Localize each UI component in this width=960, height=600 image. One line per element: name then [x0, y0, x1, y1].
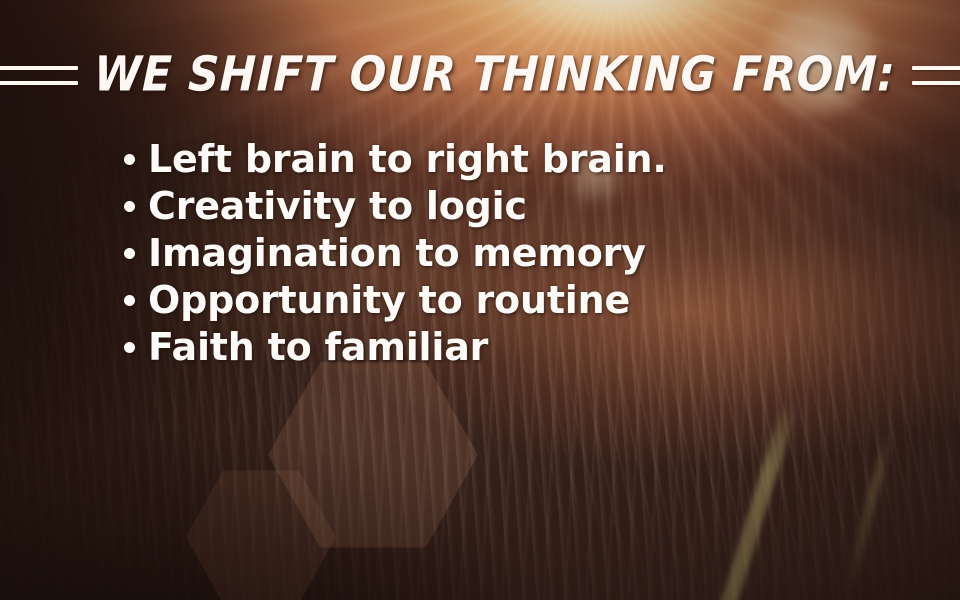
page-title: We shift our thinking from: [87, 51, 902, 99]
list-item-label: Faith to familiar [148, 324, 488, 371]
lens-flare-streak [695, 402, 798, 600]
title-rule-right-top [912, 66, 960, 70]
list-item-label: Imagination to memory [148, 230, 646, 277]
title-rule-left-top [0, 66, 78, 70]
bullet-dot-icon [124, 201, 135, 212]
title-row: We shift our thinking from: [0, 44, 960, 106]
list-item: Faith to familiar [124, 324, 824, 371]
lens-flare-hexagon-small [186, 470, 336, 600]
list-item-label: Creativity to logic [148, 183, 527, 230]
title-rule-right-bottom [912, 81, 960, 85]
lens-flare-hexagon [268, 362, 478, 548]
bullet-dot-icon [124, 154, 135, 165]
bullet-dot-icon [124, 248, 135, 259]
presentation-slide: We shift our thinking from: Left brain t… [0, 0, 960, 600]
list-item: Left brain to right brain. [124, 136, 824, 183]
list-item: Opportunity to routine [124, 277, 824, 324]
list-item-label: Opportunity to routine [148, 277, 630, 324]
bullet-list: Left brain to right brain. Creativity to… [124, 136, 824, 371]
title-rule-group-right [912, 66, 960, 85]
title-rule-group-left [0, 66, 78, 85]
bullet-dot-icon [124, 342, 135, 353]
lens-flare-streak-alt [841, 429, 894, 600]
bullet-dot-icon [124, 295, 135, 306]
list-item: Imagination to memory [124, 230, 824, 277]
title-rule-left-bottom [0, 81, 78, 85]
list-item-label: Left brain to right brain. [148, 136, 667, 183]
list-item: Creativity to logic [124, 183, 824, 230]
